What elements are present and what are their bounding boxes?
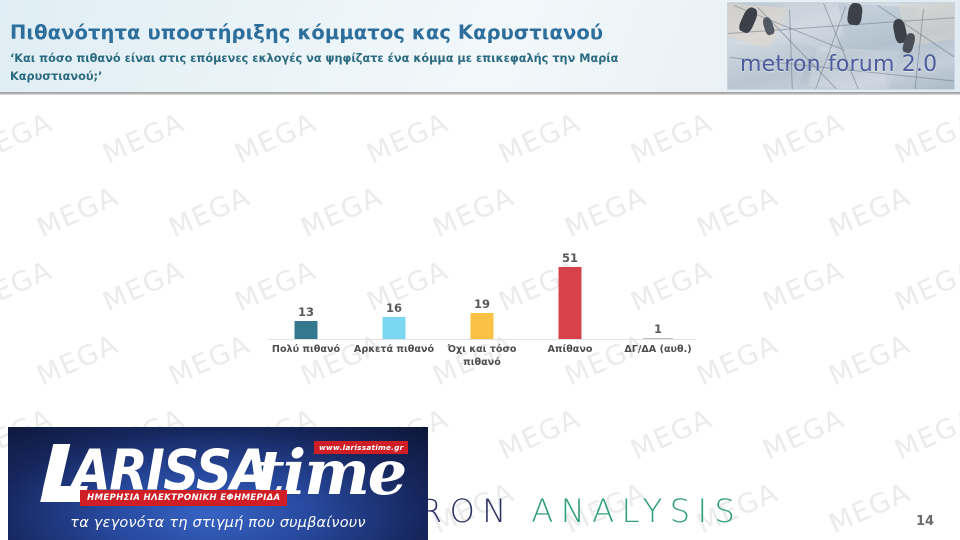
chart-bar[interactable]: [295, 321, 318, 340]
chart-category-label: Αρκετά πιθανό: [350, 344, 438, 357]
chart-bar[interactable]: [559, 267, 582, 340]
watermark-text: MEGA: [795, 300, 946, 421]
watermark-text: MEGA: [861, 226, 960, 347]
watermark-text: MEGA: [465, 374, 616, 495]
chart-bar-value-label: 1: [654, 324, 662, 336]
watermark-text: MEGA: [729, 374, 880, 495]
watermark-text: MEGA: [3, 300, 154, 421]
chart-category-label: Όχι και τόσο πιθανό: [438, 344, 526, 369]
chart-baseline-axis: [268, 339, 696, 340]
page-subtitle: ‘Και πόσο πιθανό είναι στις επόμενες εκλ…: [10, 50, 658, 85]
watermark-text: MEGA: [0, 78, 87, 199]
chart-bar-value-label: 16: [386, 303, 402, 315]
chart-bar-group[interactable]: 19: [471, 232, 494, 340]
watermark-text: MEGA: [333, 78, 484, 199]
watermark-text: MEGA: [201, 78, 352, 199]
chart-bar-slot: 51: [526, 232, 614, 340]
chart-bar-slot: 16: [350, 232, 438, 340]
chart-bar-value-label: 51: [562, 253, 578, 265]
watermark-text: MEGA: [69, 78, 220, 199]
watermark-text: MEGA: [597, 374, 748, 495]
watermark-text: MEGA: [0, 152, 21, 273]
watermark-text: MEGA: [465, 78, 616, 199]
chart-category-label: Απίθανο: [526, 344, 614, 357]
watermark-text: MEGA: [69, 226, 220, 347]
watermark-text: MEGA: [729, 78, 880, 199]
chart-plot-area: 131619511: [262, 232, 702, 340]
chart-bar-value-label: 19: [474, 299, 490, 311]
bar-chart: 131619511 Πολύ πιθανόΑρκετά πιθανόΌχι κα…: [262, 232, 702, 382]
watermark-text: MEGA: [861, 522, 960, 540]
chart-bar-group[interactable]: 13: [295, 232, 318, 340]
watermark-text: MEGA: [729, 522, 880, 540]
watermark-row: MEGAMEGAMEGAMEGAMEGAMEGAMEGAMEGAMEGAMEGA: [0, 102, 960, 176]
chart-bar[interactable]: [471, 313, 494, 340]
watermark-text: MEGA: [927, 300, 960, 421]
page-title: Πιθανότητα υποστήριξης κόμματος κας Καρυ…: [10, 22, 710, 44]
chart-bar-slot: 13: [262, 232, 350, 340]
chart-category-axis: Πολύ πιθανόΑρκετά πιθανόΌχι και τόσο πιθ…: [262, 344, 702, 384]
chart-category-label: ΔΓ/ΔΑ (αυθ.): [614, 344, 702, 357]
chart-bar-value-label: 13: [298, 307, 314, 319]
header-divider-rule: [0, 92, 960, 95]
watermark-text: MEGA: [0, 300, 21, 421]
larissatime-banner: ARISSA time www.larissatime.gr ΗΜΕΡΗΣΙΑ …: [8, 427, 428, 540]
chart-bar[interactable]: [383, 317, 406, 340]
chart-bar-group[interactable]: 1: [643, 232, 673, 340]
watermark-text: MEGA: [861, 78, 960, 199]
chart-bar-slot: 19: [438, 232, 526, 340]
watermark-text: MEGA: [795, 152, 946, 273]
slide-canvas: MEGAMEGAMEGAMEGAMEGAMEGAMEGAMEGAMEGAMEGA…: [0, 0, 960, 540]
larissatime-url-badge[interactable]: www.larissatime.gr: [314, 441, 408, 454]
chart-bar-slot: 1: [614, 232, 702, 340]
larissatime-newspaper-badge: ΗΜΕΡΗΣΙΑ ΗΛΕΚΤΡΟΝΙΚΗ ΕΦΗΜΕΡΙΔΑ: [80, 490, 287, 506]
metron-forum-logo-text: metron forum 2.0: [740, 52, 937, 77]
page-number: 14: [916, 514, 934, 529]
chart-bar-group[interactable]: 16: [383, 232, 406, 340]
watermark-text: MEGA: [927, 152, 960, 273]
watermark-text: MEGA: [729, 226, 880, 347]
larissatime-tagline: τα γεγονότα τη στιγμή που συμβαίνουν: [8, 515, 428, 531]
watermark-text: MEGA: [0, 226, 87, 347]
watermark-text: MEGA: [861, 374, 960, 495]
metron-analysis-analysis-text: ANALYSIS: [514, 492, 743, 530]
chart-category-label: Πολύ πιθανό: [262, 344, 350, 357]
chart-bar-group[interactable]: 51: [559, 232, 582, 340]
metron-forum-logo: metron forum 2.0: [727, 2, 955, 90]
watermark-text: MEGA: [3, 152, 154, 273]
watermark-text: MEGA: [597, 78, 748, 199]
